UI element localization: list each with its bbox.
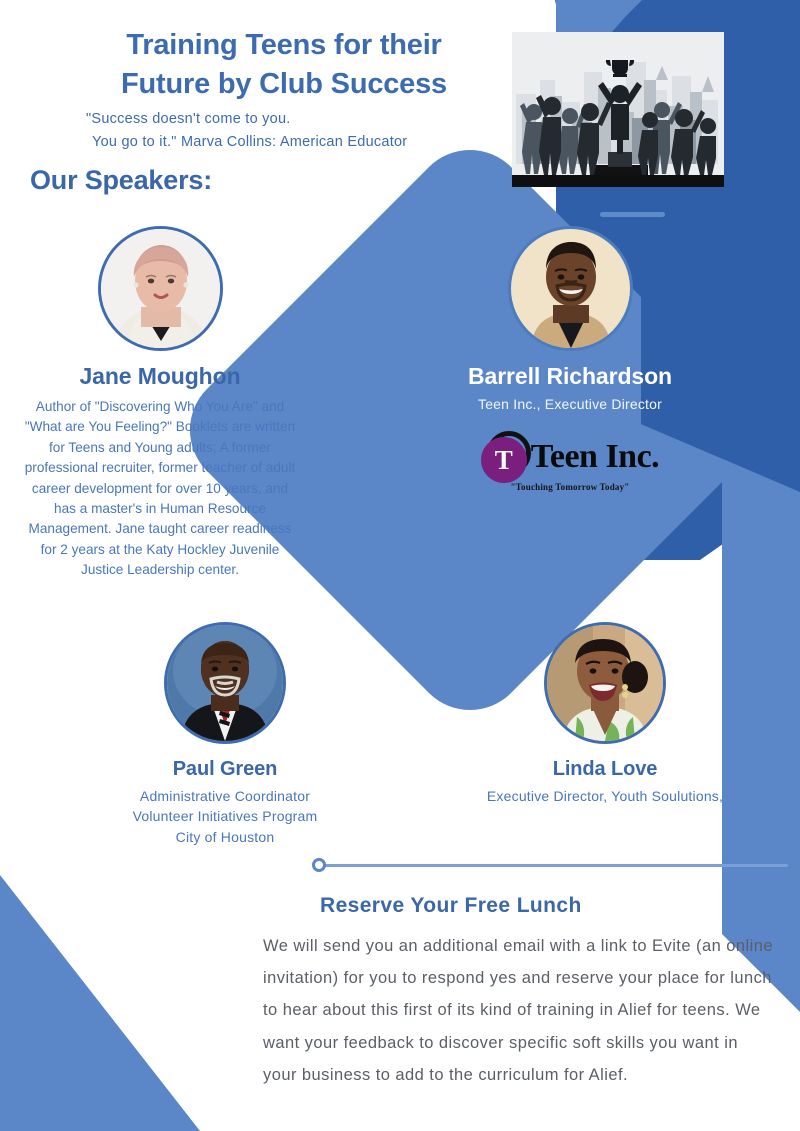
speaker-role-line-1: Administrative Coordinator	[60, 786, 390, 806]
page-title: Training Teens for their Future by Club …	[74, 26, 494, 103]
speaker-role: Administrative Coordinator Volunteer Ini…	[60, 786, 390, 847]
bottom-left-triangle	[0, 875, 200, 1131]
quote-block: "Success doesn't come to you. You go to …	[86, 108, 486, 155]
speaker-card-barrell-richardson: Barrell Richardson Teen Inc., Executive …	[440, 226, 700, 492]
speaker-name: Jane Moughon	[10, 363, 310, 390]
speaker-name: Linda Love	[440, 758, 770, 781]
divider-dot-icon	[312, 858, 326, 872]
speaker-bio: Author of "Discovering Who You Are" and …	[10, 397, 310, 581]
speaker-name: Paul Green	[60, 758, 390, 781]
celebration-illustration	[512, 32, 724, 187]
teen-inc-wordmark: Teen Inc.	[531, 440, 659, 474]
hero-divider-dash	[600, 212, 665, 217]
avatar-linda-love	[544, 622, 666, 744]
quote-line-1: "Success doesn't come to you.	[86, 108, 486, 131]
speaker-card-paul-green: Paul Green Administrative Coordinator Vo…	[60, 622, 390, 847]
footer-body-text: We will send you an additional email wit…	[263, 930, 773, 1091]
quote-line-2: You go to it." Marva Collins: American E…	[86, 131, 486, 154]
avatar-barrell-richardson	[508, 226, 633, 351]
section-divider	[312, 858, 788, 872]
footer-title: Reserve Your Free Lunch	[320, 894, 582, 918]
logo-letter-t: T	[481, 437, 527, 483]
teen-inc-logo: T Teen Inc.	[440, 426, 700, 488]
avatar-jane-moughon	[98, 226, 223, 351]
speaker-card-jane-moughon: Jane Moughon Author of "Discovering Who …	[10, 226, 310, 581]
headline-line-1: Training Teens for their	[74, 26, 494, 65]
speaker-name: Barrell Richardson	[440, 363, 700, 390]
headline-line-2: Future by Club Success	[74, 65, 494, 104]
teen-inc-logo-mark: T	[481, 431, 533, 483]
speaker-role: Teen Inc., Executive Director	[440, 396, 700, 412]
speakers-heading: Our Speakers:	[30, 165, 212, 196]
speaker-role: Executive Director, Youth Soulutions,	[440, 786, 770, 806]
divider-line	[322, 864, 788, 867]
speaker-role-line-3: City of Houston	[60, 827, 390, 847]
poster-canvas: Training Teens for their Future by Club …	[0, 0, 800, 1131]
speaker-role-line-2: Volunteer Initiatives Program	[60, 806, 390, 826]
speaker-card-linda-love: Linda Love Executive Director, Youth Sou…	[440, 622, 770, 806]
avatar-paul-green	[164, 622, 286, 744]
